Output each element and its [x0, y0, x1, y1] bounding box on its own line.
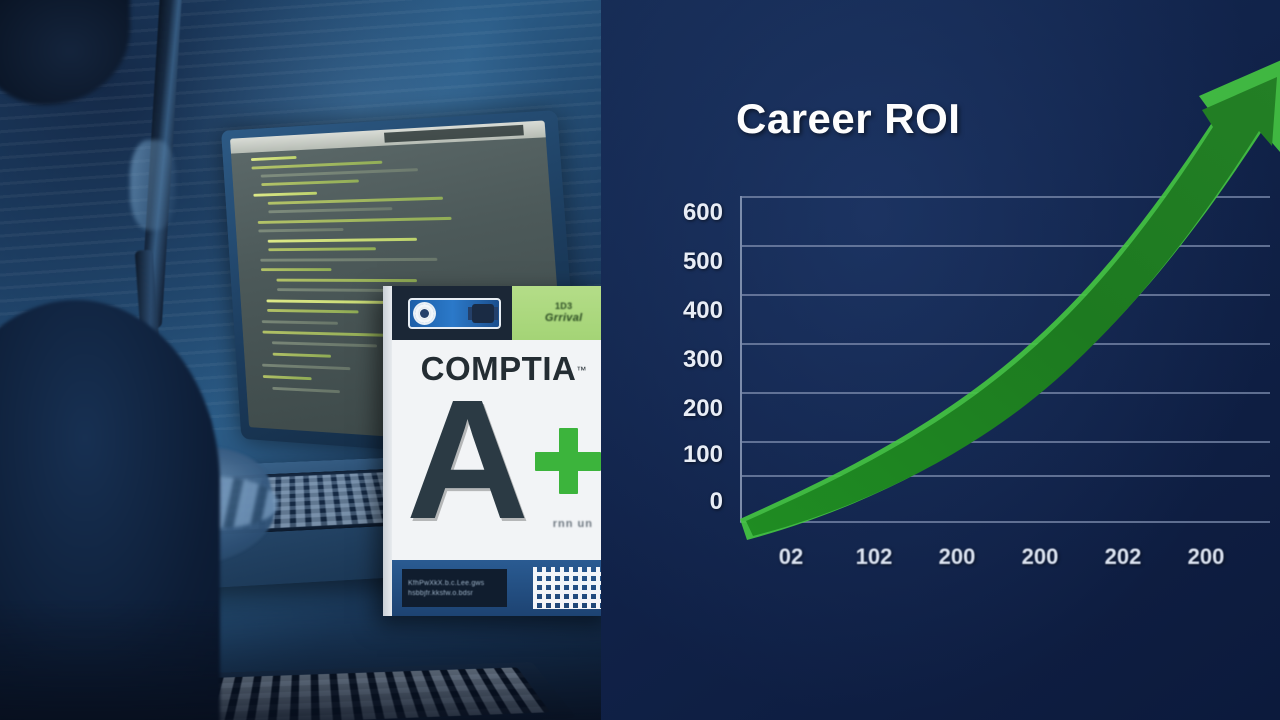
chip-icon — [472, 304, 494, 323]
plus-icon — [535, 428, 601, 494]
x-tick-label-2: 200 — [922, 544, 992, 570]
book-footer-label: KfhPwXkX.b.c.Lee.gws hsbbjfr.kksfw.o.bds… — [402, 569, 507, 607]
book-cover: 1D3 Grrival COMPTIA™ A rnn un KfhPwXkX.b… — [392, 286, 615, 616]
footer-line-1: KfhPwXkX.b.c.Lee.gws — [408, 580, 507, 587]
qr-code-icon — [533, 567, 605, 609]
editor-titlebar — [230, 120, 546, 153]
slide-canvas: 1D3 Grrival COMPTIA™ A rnn un KfhPwXkX.b… — [0, 0, 1280, 720]
book-header-bar: 1D3 Grrival — [392, 286, 615, 340]
header-green-line2: Grrival — [545, 312, 583, 326]
trademark-symbol: ™ — [576, 366, 586, 377]
arrow-highlight — [740, 58, 1280, 540]
certification-mark: A — [392, 382, 615, 572]
x-tick-label-0: 02 — [756, 544, 826, 570]
book-header-green-panel: 1D3 Grrival — [512, 286, 615, 340]
book-footer-bar: KfhPwXkX.b.c.Lee.gws hsbbjfr.kksfw.o.bds… — [392, 560, 615, 616]
x-tick-label-1: 102 — [839, 544, 909, 570]
x-tick-label-3: 200 — [1005, 544, 1075, 570]
letter-a: A — [406, 382, 529, 538]
header-green-line1: 1D3 — [555, 301, 572, 312]
comptia-badge — [408, 298, 501, 329]
book-edition-text: rnn un — [553, 518, 593, 530]
x-tick-label-5: 200 — [1171, 544, 1241, 570]
footer-line-2: hsbbjfr.kksfw.o.bdsr — [408, 590, 507, 597]
desk-shadow — [0, 600, 601, 720]
growth-arrow — [601, 0, 1280, 720]
career-roi-chart-panel: Career ROI 600 500 400 300 200 100 0 — [601, 0, 1280, 720]
x-tick-label-4: 202 — [1088, 544, 1158, 570]
gear-icon — [415, 304, 434, 323]
comptia-a-plus-certification-book: 1D3 Grrival COMPTIA™ A rnn un KfhPwXkX.b… — [383, 286, 615, 616]
